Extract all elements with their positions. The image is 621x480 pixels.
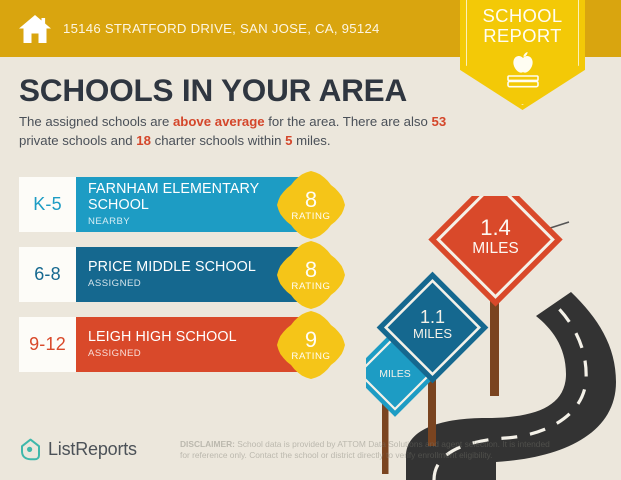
school-name-bar: LEIGH HIGH SCHOOL ASSIGNED	[76, 317, 306, 372]
sign-2-unit: MILES	[413, 326, 452, 341]
grade-range-box: 9-12	[19, 317, 76, 372]
school-status: NEARBY	[88, 216, 306, 227]
listreports-house-pin-icon	[20, 438, 41, 461]
rating-badge: 8 RATING	[277, 171, 345, 239]
grade-range-box: 6-8	[19, 247, 76, 302]
grade-range-label: 6-8	[34, 264, 61, 285]
school-report-infographic: 15146 STRATFORD DRIVE, SAN JOSE, CA, 951…	[0, 0, 621, 480]
school-report-badge: SCHOOL REPORT	[460, 0, 585, 110]
badge-title: SCHOOL REPORT	[460, 6, 585, 46]
page-title: SCHOOLS IN YOUR AREA	[19, 72, 407, 109]
disclaimer-text: DISCLAIMER: School data is provided by A…	[180, 439, 552, 461]
listreports-logo-text: ListReports	[48, 439, 137, 460]
sign-1-unit: MILES	[379, 368, 411, 380]
rating-value: 8	[305, 189, 317, 210]
sign-2-value: 1.1	[420, 307, 445, 327]
rating-badge: 8 RATING	[277, 241, 345, 309]
disclaimer-body: School data is provided by ATTOM Data So…	[180, 439, 550, 460]
home-icon	[18, 14, 52, 44]
rating-label: RATING	[291, 281, 330, 292]
rating-label: RATING	[291, 351, 330, 362]
school-name: FARNHAM ELEMENTARY SCHOOL	[88, 182, 306, 213]
sign-3-unit: MILES	[472, 240, 519, 257]
sign-3-value: 1.4	[480, 215, 511, 240]
subtitle-part-3: private schools and	[19, 133, 136, 148]
subtitle-text: The assigned schools are above average f…	[19, 113, 449, 150]
grade-range-box: K-5	[19, 177, 76, 232]
badge-title-line1: SCHOOL	[460, 6, 585, 26]
rating-value: 9	[305, 329, 317, 350]
subtitle-part-4: charter schools within	[151, 133, 285, 148]
school-name-bar: PRICE MIDDLE SCHOOL ASSIGNED	[76, 247, 306, 302]
road-illustration: MILES 1.1 MILES 1.4 MILES	[366, 196, 621, 480]
rating-badge: 9 RATING	[277, 311, 345, 379]
school-status: ASSIGNED	[88, 348, 306, 359]
school-status: ASSIGNED	[88, 278, 306, 289]
subtitle-highlight-rating: above average	[173, 114, 265, 129]
rating-value: 8	[305, 259, 317, 280]
school-row[interactable]: 6-8 PRICE MIDDLE SCHOOL ASSIGNED 8 RATIN…	[19, 247, 306, 302]
subtitle-part-2: for the area. There are also	[265, 114, 432, 129]
subtitle-highlight-private-count: 53	[432, 114, 447, 129]
apple-on-book-icon	[500, 50, 546, 90]
badge-title-line2: REPORT	[460, 26, 585, 46]
school-name: LEIGH HIGH SCHOOL	[88, 330, 306, 346]
school-name: PRICE MIDDLE SCHOOL	[88, 260, 306, 276]
address-text: 15146 STRATFORD DRIVE, SAN JOSE, CA, 951…	[63, 21, 380, 36]
subtitle-part-5: miles.	[292, 133, 330, 148]
school-row[interactable]: K-5 FARNHAM ELEMENTARY SCHOOL NEARBY 8 R…	[19, 177, 306, 232]
listreports-logo[interactable]: ListReports	[20, 438, 137, 461]
school-name-bar: FARNHAM ELEMENTARY SCHOOL NEARBY	[76, 177, 306, 232]
subtitle-highlight-charter-count: 18	[136, 133, 151, 148]
subtitle-part-1: The assigned schools are	[19, 114, 173, 129]
grade-range-label: K-5	[33, 194, 62, 215]
disclaimer-label: DISCLAIMER:	[180, 439, 235, 449]
rating-label: RATING	[291, 211, 330, 222]
grade-range-label: 9-12	[29, 334, 66, 355]
school-row[interactable]: 9-12 LEIGH HIGH SCHOOL ASSIGNED 9 RATING	[19, 317, 306, 372]
